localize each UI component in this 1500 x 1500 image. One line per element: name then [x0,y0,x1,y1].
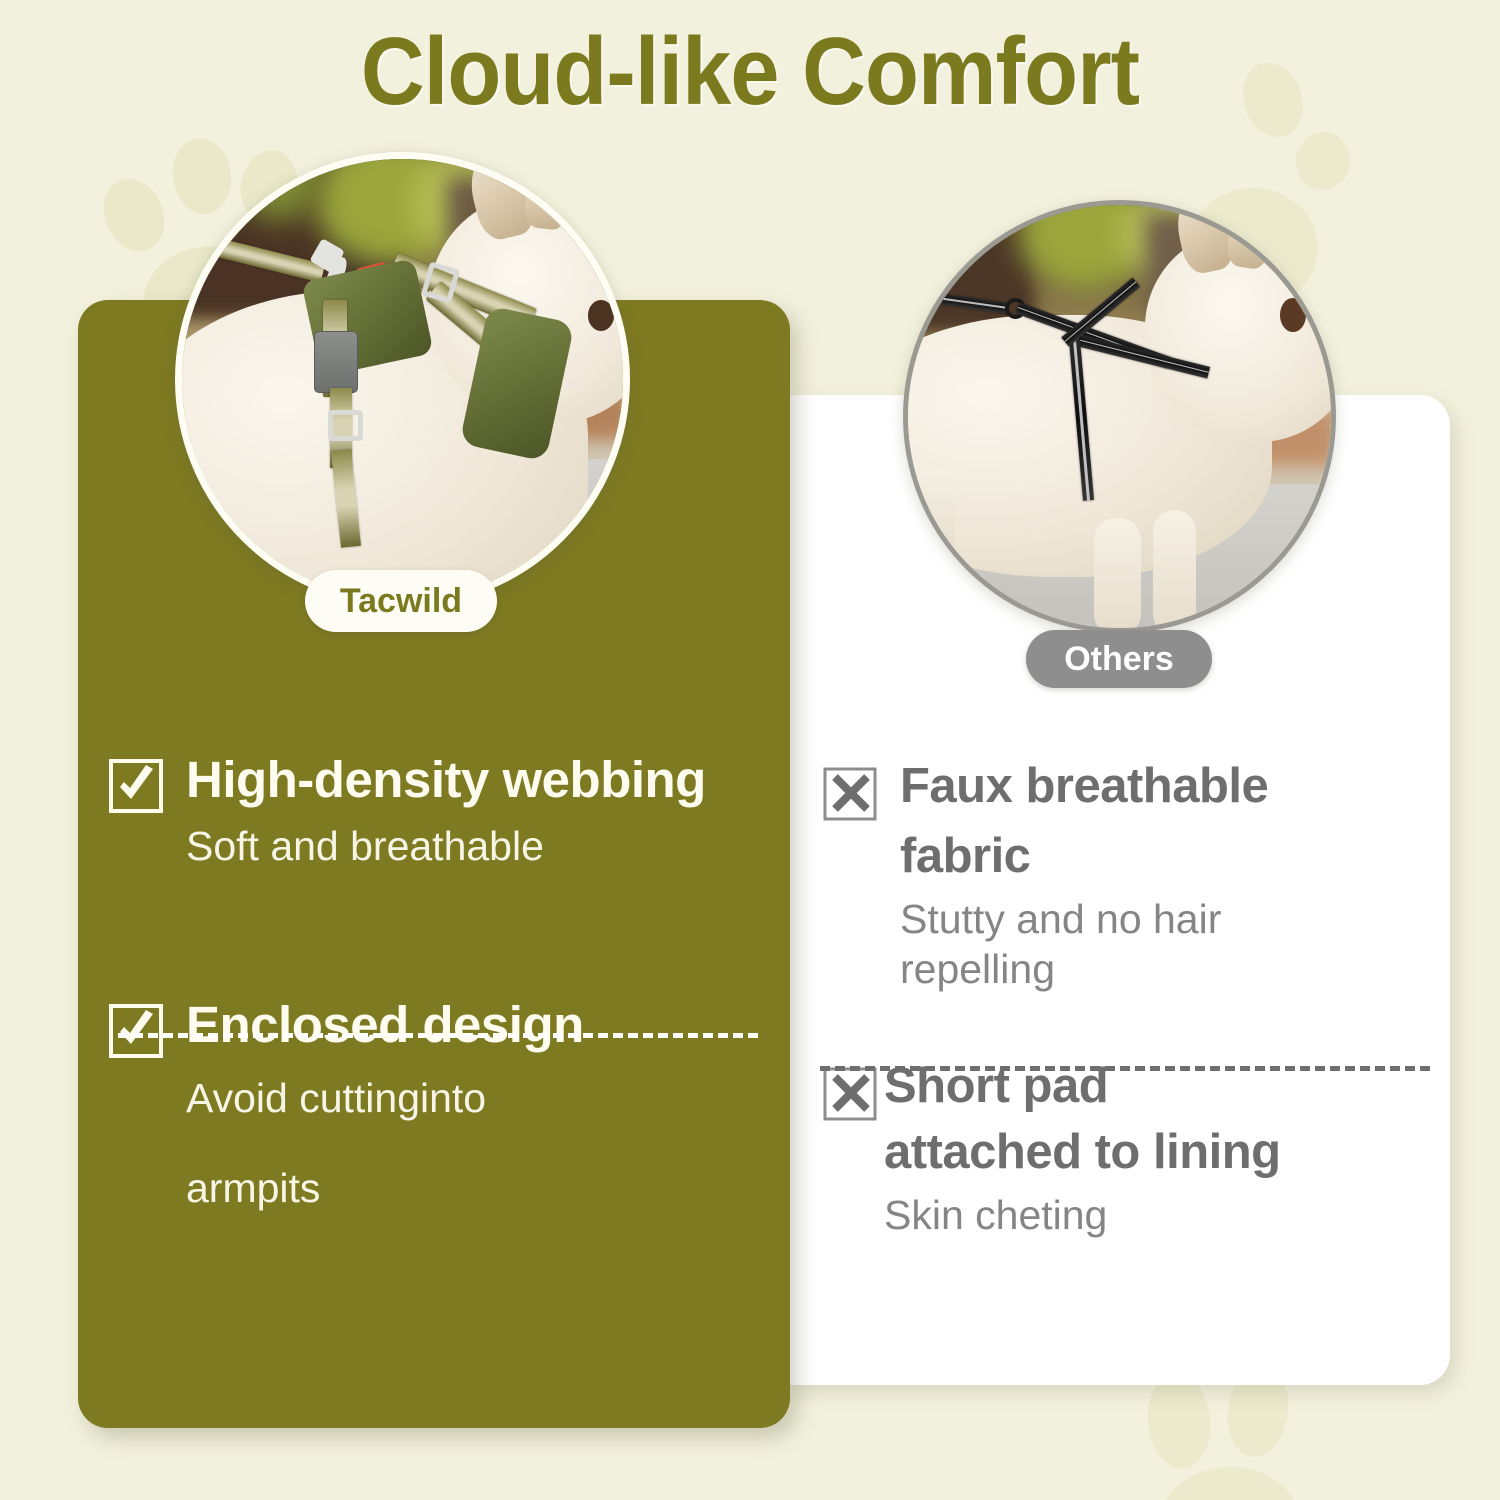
feature-subtitle-line-2: repelling [900,944,1442,994]
others-brand-label: Others [1064,640,1174,679]
feature-item-short-pad: Short pad attached to lining Skin chetin… [822,1060,1442,1240]
feature-subtitle-line-2: armpits [186,1157,768,1221]
tacwild-brand-badge: Tacwild [305,570,497,632]
page-title: Cloud-like Comfort [60,24,1440,120]
feature-item-high-density-webbing: High-density webbing Soft and breathable [108,752,768,871]
left-panel-divider [118,1033,758,1038]
feature-subtitle: Skin cheting [884,1190,1442,1240]
feature-title-line-2: fabric [900,830,1442,884]
feature-item-faux-breathable-fabric: Faux breathable fabric Stutty and no hai… [822,760,1442,994]
infographic-root: Cloud-like Comfort [0,0,1500,1500]
others-product-photo [903,200,1336,633]
tacwild-feature-list: High-density webbing Soft and breathable… [108,752,768,1220]
right-panel-divider [820,1066,1430,1071]
feature-title-line-2: attached to lining [884,1126,1442,1180]
cross-icon [822,1066,878,1122]
feature-item-enclosed-design: Enclosed design Avoid cuttinginto armpit… [108,997,768,1220]
feature-subtitle-line-1: Avoid cuttinginto [186,1067,768,1131]
tacwild-product-photo [175,152,630,607]
check-icon [108,1003,164,1059]
tacwild-brand-label: Tacwild [340,582,462,621]
others-feature-list: Faux breathable fabric Stutty and no hai… [822,760,1442,1240]
feature-title: Enclosed design [186,997,768,1053]
feature-subtitle-line-1: Stutty and no hair [900,894,1442,944]
feature-title-line-1: Faux breathable [900,760,1442,814]
cross-icon [822,766,878,822]
feature-subtitle: Soft and breathable [186,822,768,871]
feature-title: High-density webbing [186,752,768,808]
check-icon [108,758,164,814]
others-brand-badge: Others [1026,630,1212,688]
